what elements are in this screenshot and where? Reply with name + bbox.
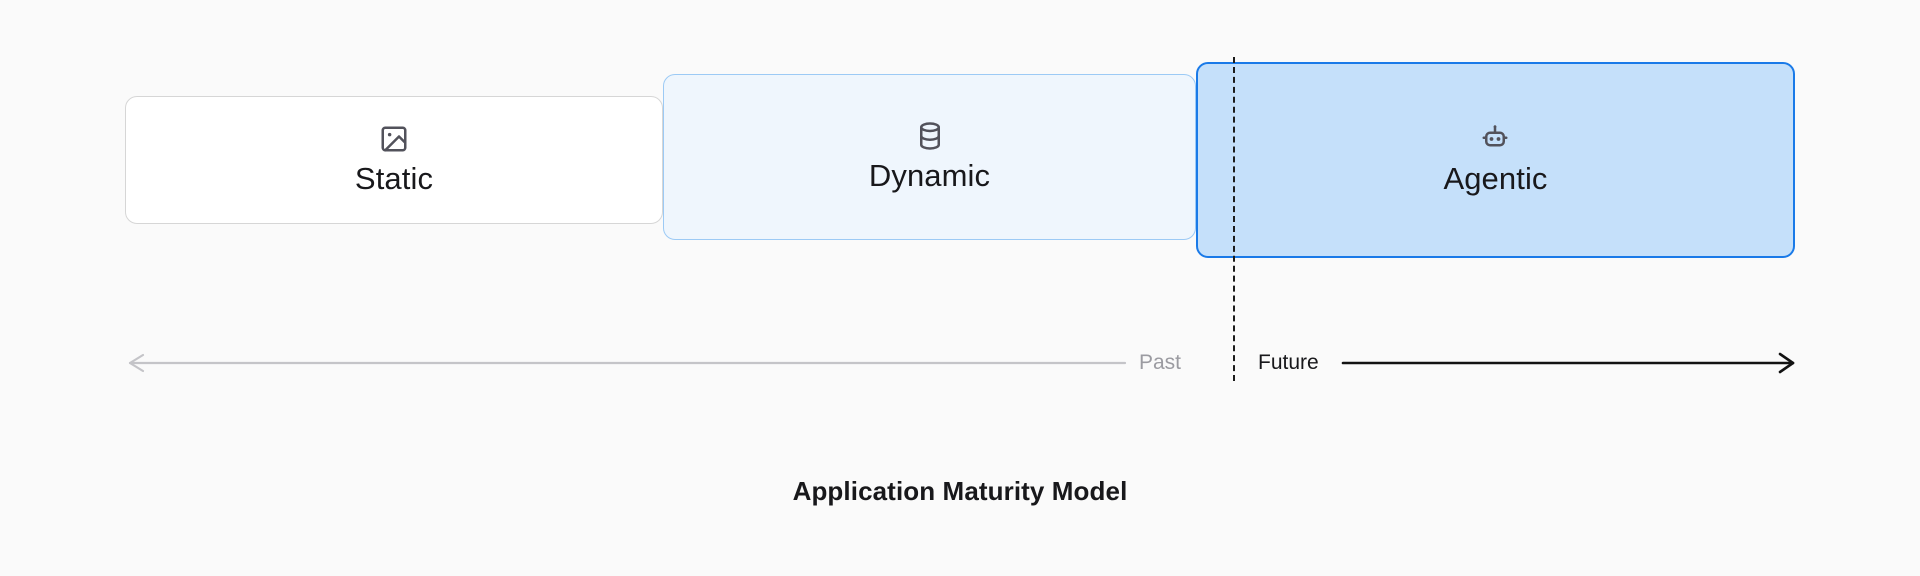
stage-card-agentic-content: Agentic [1443, 124, 1547, 196]
arrow-left-icon [130, 355, 1125, 371]
stage-card-dynamic-label: Dynamic [869, 159, 990, 193]
timeline-label-future: Future [1258, 349, 1319, 377]
stage-card-agentic-label: Agentic [1443, 162, 1547, 196]
image-icon [379, 124, 409, 154]
diagram-title: Application Maturity Model [0, 476, 1920, 507]
robot-icon [1480, 124, 1510, 154]
stage-card-dynamic[interactable]: Dynamic [663, 74, 1196, 240]
timeline [0, 344, 1920, 384]
stage-card-static[interactable]: Static [125, 96, 663, 224]
maturity-model-diagram: Static Dynamic [0, 0, 1920, 576]
stage-card-static-label: Static [355, 162, 433, 196]
stage-card-agentic[interactable]: Agentic [1196, 62, 1795, 258]
timeline-label-past: Past [1139, 349, 1181, 377]
stage-card-static-content: Static [355, 124, 433, 196]
stage-card-dynamic-content: Dynamic [869, 121, 990, 193]
database-icon [915, 121, 945, 151]
dashed-divider [1233, 57, 1235, 381]
arrow-right-icon [1343, 354, 1793, 372]
